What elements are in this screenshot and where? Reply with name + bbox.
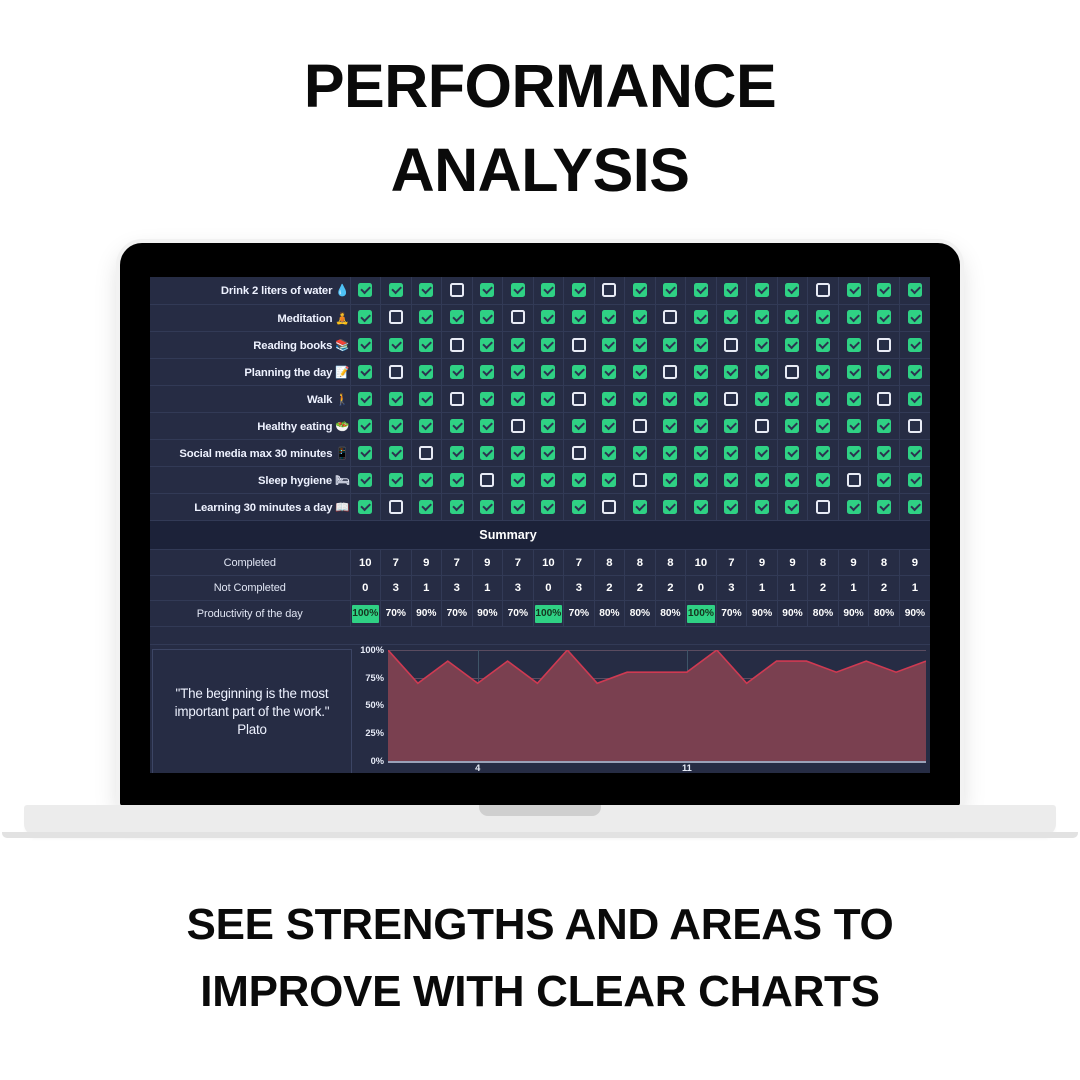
checkbox-checked-icon[interactable] [389, 338, 403, 352]
checkbox-checked-icon[interactable] [816, 392, 830, 406]
habit-cell[interactable] [655, 304, 686, 331]
habit-cell[interactable] [350, 358, 381, 385]
checkbox-checked-icon[interactable] [908, 283, 922, 297]
checkbox-checked-icon[interactable] [847, 446, 861, 460]
checkbox-unchecked-icon[interactable] [389, 500, 403, 514]
habit-cell[interactable] [472, 358, 503, 385]
habit-cell[interactable] [350, 385, 381, 412]
habit-cell[interactable] [350, 412, 381, 439]
habit-cell[interactable] [442, 385, 473, 412]
habit-cell[interactable] [381, 358, 412, 385]
habit-cell[interactable] [777, 385, 808, 412]
checkbox-unchecked-icon[interactable] [785, 365, 799, 379]
habit-cell[interactable] [808, 494, 839, 521]
checkbox-unchecked-icon[interactable] [908, 419, 922, 433]
checkbox-checked-icon[interactable] [541, 419, 555, 433]
habit-cell[interactable] [625, 277, 656, 304]
checkbox-checked-icon[interactable] [633, 283, 647, 297]
habit-cell[interactable] [350, 467, 381, 494]
habit-cell[interactable] [777, 467, 808, 494]
checkbox-checked-icon[interactable] [755, 500, 769, 514]
habit-cell[interactable] [503, 385, 534, 412]
habit-cell[interactable] [686, 494, 717, 521]
habit-cell[interactable] [533, 358, 564, 385]
checkbox-checked-icon[interactable] [816, 338, 830, 352]
checkbox-checked-icon[interactable] [724, 500, 738, 514]
checkbox-checked-icon[interactable] [358, 283, 372, 297]
checkbox-unchecked-icon[interactable] [663, 365, 677, 379]
habit-cell[interactable] [747, 331, 778, 358]
checkbox-checked-icon[interactable] [816, 446, 830, 460]
habit-cell[interactable] [442, 467, 473, 494]
habit-cell[interactable] [655, 440, 686, 467]
checkbox-unchecked-icon[interactable] [572, 392, 586, 406]
checkbox-checked-icon[interactable] [450, 446, 464, 460]
habit-cell[interactable] [869, 331, 900, 358]
habit-cell[interactable] [564, 440, 595, 467]
habit-cell[interactable] [777, 440, 808, 467]
checkbox-checked-icon[interactable] [572, 500, 586, 514]
habit-cell[interactable] [747, 412, 778, 439]
checkbox-checked-icon[interactable] [755, 338, 769, 352]
habit-cell[interactable] [899, 412, 930, 439]
habit-cell[interactable] [899, 358, 930, 385]
checkbox-unchecked-icon[interactable] [480, 473, 494, 487]
checkbox-checked-icon[interactable] [358, 473, 372, 487]
checkbox-checked-icon[interactable] [450, 473, 464, 487]
habit-cell[interactable] [503, 331, 534, 358]
habit-cell[interactable] [381, 412, 412, 439]
habit-cell[interactable] [442, 412, 473, 439]
checkbox-unchecked-icon[interactable] [633, 419, 647, 433]
checkbox-checked-icon[interactable] [755, 365, 769, 379]
checkbox-checked-icon[interactable] [724, 283, 738, 297]
habit-cell[interactable] [533, 494, 564, 521]
habit-cell[interactable] [838, 304, 869, 331]
habit-cell[interactable] [838, 412, 869, 439]
habit-cell[interactable] [625, 385, 656, 412]
checkbox-checked-icon[interactable] [511, 473, 525, 487]
checkbox-checked-icon[interactable] [572, 310, 586, 324]
habit-cell[interactable] [594, 277, 625, 304]
checkbox-checked-icon[interactable] [755, 392, 769, 406]
habit-cell[interactable] [716, 304, 747, 331]
checkbox-checked-icon[interactable] [480, 338, 494, 352]
habit-cell[interactable] [655, 412, 686, 439]
checkbox-checked-icon[interactable] [480, 392, 494, 406]
checkbox-unchecked-icon[interactable] [633, 473, 647, 487]
checkbox-checked-icon[interactable] [541, 283, 555, 297]
checkbox-checked-icon[interactable] [877, 365, 891, 379]
habit-cell[interactable] [411, 385, 442, 412]
checkbox-checked-icon[interactable] [541, 473, 555, 487]
habit-cell[interactable] [838, 440, 869, 467]
habit-cell[interactable] [411, 358, 442, 385]
habit-cell[interactable] [472, 277, 503, 304]
checkbox-checked-icon[interactable] [908, 338, 922, 352]
checkbox-unchecked-icon[interactable] [816, 283, 830, 297]
checkbox-checked-icon[interactable] [389, 283, 403, 297]
checkbox-checked-icon[interactable] [847, 338, 861, 352]
checkbox-checked-icon[interactable] [816, 419, 830, 433]
checkbox-checked-icon[interactable] [908, 365, 922, 379]
habit-cell[interactable] [655, 277, 686, 304]
habit-cell[interactable] [472, 467, 503, 494]
checkbox-checked-icon[interactable] [480, 419, 494, 433]
habit-cell[interactable] [625, 412, 656, 439]
habit-cell[interactable] [503, 277, 534, 304]
checkbox-checked-icon[interactable] [694, 500, 708, 514]
checkbox-unchecked-icon[interactable] [816, 500, 830, 514]
checkbox-checked-icon[interactable] [877, 310, 891, 324]
checkbox-checked-icon[interactable] [785, 283, 799, 297]
habit-cell[interactable] [411, 277, 442, 304]
checkbox-checked-icon[interactable] [694, 392, 708, 406]
checkbox-checked-icon[interactable] [908, 310, 922, 324]
habit-cell[interactable] [686, 467, 717, 494]
checkbox-unchecked-icon[interactable] [847, 473, 861, 487]
habit-cell[interactable] [381, 494, 412, 521]
habit-cell[interactable] [808, 467, 839, 494]
checkbox-checked-icon[interactable] [663, 283, 677, 297]
checkbox-checked-icon[interactable] [389, 419, 403, 433]
checkbox-unchecked-icon[interactable] [511, 310, 525, 324]
checkbox-unchecked-icon[interactable] [724, 338, 738, 352]
habit-cell[interactable] [686, 385, 717, 412]
habit-cell[interactable] [411, 440, 442, 467]
habit-cell[interactable] [869, 358, 900, 385]
habit-cell[interactable] [442, 277, 473, 304]
checkbox-checked-icon[interactable] [755, 446, 769, 460]
habit-cell[interactable] [838, 467, 869, 494]
checkbox-checked-icon[interactable] [724, 419, 738, 433]
habit-cell[interactable] [899, 467, 930, 494]
habit-cell[interactable] [350, 277, 381, 304]
habit-cell[interactable] [777, 494, 808, 521]
checkbox-checked-icon[interactable] [663, 446, 677, 460]
checkbox-checked-icon[interactable] [480, 500, 494, 514]
habit-cell[interactable] [625, 467, 656, 494]
habit-cell[interactable] [594, 412, 625, 439]
checkbox-checked-icon[interactable] [358, 446, 372, 460]
habit-cell[interactable] [747, 494, 778, 521]
habit-cell[interactable] [899, 277, 930, 304]
habit-cell[interactable] [472, 494, 503, 521]
habit-cell[interactable] [533, 467, 564, 494]
habit-cell[interactable] [747, 467, 778, 494]
checkbox-checked-icon[interactable] [602, 446, 616, 460]
habit-cell[interactable] [777, 358, 808, 385]
habit-cell[interactable] [564, 358, 595, 385]
habit-cell[interactable] [533, 304, 564, 331]
habit-cell[interactable] [899, 440, 930, 467]
checkbox-checked-icon[interactable] [908, 473, 922, 487]
habit-cell[interactable] [442, 331, 473, 358]
habit-cell[interactable] [869, 385, 900, 412]
checkbox-checked-icon[interactable] [358, 365, 372, 379]
checkbox-checked-icon[interactable] [877, 283, 891, 297]
habit-cell[interactable] [747, 358, 778, 385]
checkbox-checked-icon[interactable] [816, 473, 830, 487]
habit-cell[interactable] [503, 440, 534, 467]
checkbox-checked-icon[interactable] [541, 392, 555, 406]
habit-cell[interactable] [777, 277, 808, 304]
habit-cell[interactable] [411, 467, 442, 494]
habit-cell[interactable] [869, 304, 900, 331]
checkbox-checked-icon[interactable] [633, 392, 647, 406]
habit-cell[interactable] [472, 331, 503, 358]
habit-cell[interactable] [350, 331, 381, 358]
checkbox-checked-icon[interactable] [389, 446, 403, 460]
checkbox-checked-icon[interactable] [511, 446, 525, 460]
habit-cell[interactable] [869, 277, 900, 304]
checkbox-checked-icon[interactable] [785, 473, 799, 487]
checkbox-checked-icon[interactable] [724, 446, 738, 460]
checkbox-checked-icon[interactable] [816, 365, 830, 379]
checkbox-unchecked-icon[interactable] [450, 392, 464, 406]
checkbox-checked-icon[interactable] [785, 446, 799, 460]
checkbox-checked-icon[interactable] [847, 283, 861, 297]
checkbox-checked-icon[interactable] [480, 365, 494, 379]
habit-cell[interactable] [747, 385, 778, 412]
checkbox-checked-icon[interactable] [694, 473, 708, 487]
checkbox-checked-icon[interactable] [694, 310, 708, 324]
checkbox-checked-icon[interactable] [419, 365, 433, 379]
checkbox-checked-icon[interactable] [724, 365, 738, 379]
habit-cell[interactable] [533, 277, 564, 304]
checkbox-checked-icon[interactable] [358, 310, 372, 324]
checkbox-checked-icon[interactable] [847, 365, 861, 379]
habit-cell[interactable] [899, 385, 930, 412]
habit-cell[interactable] [716, 277, 747, 304]
habit-cell[interactable] [381, 277, 412, 304]
habit-cell[interactable] [442, 440, 473, 467]
habit-cell[interactable] [625, 440, 656, 467]
habit-cell[interactable] [411, 412, 442, 439]
habit-cell[interactable] [594, 494, 625, 521]
habit-cell[interactable] [411, 331, 442, 358]
checkbox-checked-icon[interactable] [663, 392, 677, 406]
habit-cell[interactable] [716, 358, 747, 385]
habit-cell[interactable] [564, 331, 595, 358]
habit-cell[interactable] [686, 331, 717, 358]
habit-cell[interactable] [869, 494, 900, 521]
checkbox-checked-icon[interactable] [511, 338, 525, 352]
checkbox-checked-icon[interactable] [785, 310, 799, 324]
habit-cell[interactable] [777, 331, 808, 358]
checkbox-checked-icon[interactable] [908, 446, 922, 460]
checkbox-checked-icon[interactable] [694, 283, 708, 297]
checkbox-checked-icon[interactable] [755, 473, 769, 487]
habit-cell[interactable] [655, 331, 686, 358]
habit-cell[interactable] [350, 440, 381, 467]
habit-cell[interactable] [686, 440, 717, 467]
checkbox-checked-icon[interactable] [847, 310, 861, 324]
habit-cell[interactable] [472, 412, 503, 439]
habit-cell[interactable] [381, 331, 412, 358]
habit-cell[interactable] [869, 440, 900, 467]
habit-cell[interactable] [777, 412, 808, 439]
habit-cell[interactable] [899, 304, 930, 331]
checkbox-unchecked-icon[interactable] [724, 392, 738, 406]
checkbox-checked-icon[interactable] [602, 473, 616, 487]
habit-cell[interactable] [655, 494, 686, 521]
checkbox-checked-icon[interactable] [572, 419, 586, 433]
checkbox-checked-icon[interactable] [755, 283, 769, 297]
habit-cell[interactable] [808, 277, 839, 304]
habit-cell[interactable] [503, 304, 534, 331]
checkbox-unchecked-icon[interactable] [602, 283, 616, 297]
habit-cell[interactable] [777, 304, 808, 331]
checkbox-checked-icon[interactable] [480, 310, 494, 324]
checkbox-checked-icon[interactable] [633, 365, 647, 379]
habit-cell[interactable] [503, 412, 534, 439]
habit-cell[interactable] [533, 412, 564, 439]
checkbox-unchecked-icon[interactable] [877, 392, 891, 406]
checkbox-checked-icon[interactable] [877, 473, 891, 487]
checkbox-checked-icon[interactable] [724, 473, 738, 487]
checkbox-unchecked-icon[interactable] [511, 419, 525, 433]
checkbox-checked-icon[interactable] [541, 500, 555, 514]
habit-cell[interactable] [625, 494, 656, 521]
habit-cell[interactable] [686, 277, 717, 304]
checkbox-checked-icon[interactable] [541, 365, 555, 379]
checkbox-checked-icon[interactable] [877, 419, 891, 433]
checkbox-unchecked-icon[interactable] [450, 283, 464, 297]
habit-cell[interactable] [411, 494, 442, 521]
checkbox-checked-icon[interactable] [633, 310, 647, 324]
habit-cell[interactable] [869, 412, 900, 439]
checkbox-unchecked-icon[interactable] [572, 446, 586, 460]
checkbox-checked-icon[interactable] [572, 473, 586, 487]
habit-cell[interactable] [716, 331, 747, 358]
checkbox-checked-icon[interactable] [602, 310, 616, 324]
habit-cell[interactable] [625, 358, 656, 385]
checkbox-checked-icon[interactable] [419, 310, 433, 324]
checkbox-checked-icon[interactable] [602, 338, 616, 352]
habit-cell[interactable] [564, 494, 595, 521]
habit-cell[interactable] [594, 358, 625, 385]
checkbox-checked-icon[interactable] [419, 392, 433, 406]
checkbox-checked-icon[interactable] [511, 500, 525, 514]
habit-cell[interactable] [350, 304, 381, 331]
habit-cell[interactable] [808, 440, 839, 467]
checkbox-checked-icon[interactable] [511, 365, 525, 379]
habit-cell[interactable] [381, 440, 412, 467]
checkbox-checked-icon[interactable] [450, 500, 464, 514]
habit-cell[interactable] [747, 304, 778, 331]
checkbox-checked-icon[interactable] [358, 392, 372, 406]
checkbox-checked-icon[interactable] [511, 283, 525, 297]
checkbox-checked-icon[interactable] [450, 310, 464, 324]
habit-cell[interactable] [747, 277, 778, 304]
habit-cell[interactable] [442, 494, 473, 521]
habit-cell[interactable] [838, 358, 869, 385]
habit-cell[interactable] [625, 331, 656, 358]
checkbox-checked-icon[interactable] [663, 338, 677, 352]
checkbox-checked-icon[interactable] [694, 419, 708, 433]
checkbox-checked-icon[interactable] [602, 419, 616, 433]
checkbox-checked-icon[interactable] [847, 392, 861, 406]
checkbox-checked-icon[interactable] [358, 419, 372, 433]
habit-cell[interactable] [564, 304, 595, 331]
checkbox-checked-icon[interactable] [541, 446, 555, 460]
habit-cell[interactable] [625, 304, 656, 331]
habit-cell[interactable] [594, 385, 625, 412]
habit-cell[interactable] [686, 304, 717, 331]
checkbox-checked-icon[interactable] [816, 310, 830, 324]
habit-cell[interactable] [503, 494, 534, 521]
checkbox-checked-icon[interactable] [694, 338, 708, 352]
checkbox-checked-icon[interactable] [847, 419, 861, 433]
checkbox-unchecked-icon[interactable] [389, 365, 403, 379]
habit-cell[interactable] [503, 467, 534, 494]
checkbox-checked-icon[interactable] [450, 365, 464, 379]
checkbox-checked-icon[interactable] [419, 283, 433, 297]
habit-cell[interactable] [899, 494, 930, 521]
habit-cell[interactable] [350, 494, 381, 521]
checkbox-unchecked-icon[interactable] [450, 338, 464, 352]
habit-cell[interactable] [564, 467, 595, 494]
checkbox-checked-icon[interactable] [572, 283, 586, 297]
checkbox-checked-icon[interactable] [908, 392, 922, 406]
checkbox-unchecked-icon[interactable] [602, 500, 616, 514]
habit-cell[interactable] [808, 412, 839, 439]
checkbox-checked-icon[interactable] [785, 419, 799, 433]
checkbox-checked-icon[interactable] [419, 338, 433, 352]
habit-cell[interactable] [472, 304, 503, 331]
habit-cell[interactable] [686, 358, 717, 385]
checkbox-checked-icon[interactable] [633, 338, 647, 352]
habit-cell[interactable] [899, 331, 930, 358]
habit-cell[interactable] [686, 412, 717, 439]
habit-cell[interactable] [808, 331, 839, 358]
checkbox-checked-icon[interactable] [572, 365, 586, 379]
checkbox-checked-icon[interactable] [450, 419, 464, 433]
habit-cell[interactable] [381, 304, 412, 331]
checkbox-checked-icon[interactable] [785, 500, 799, 514]
habit-cell[interactable] [808, 385, 839, 412]
checkbox-checked-icon[interactable] [511, 392, 525, 406]
checkbox-checked-icon[interactable] [389, 392, 403, 406]
checkbox-checked-icon[interactable] [358, 500, 372, 514]
checkbox-checked-icon[interactable] [663, 500, 677, 514]
habit-cell[interactable] [838, 385, 869, 412]
checkbox-checked-icon[interactable] [724, 310, 738, 324]
habit-cell[interactable] [381, 385, 412, 412]
habit-cell[interactable] [594, 467, 625, 494]
checkbox-checked-icon[interactable] [541, 310, 555, 324]
habit-cell[interactable] [838, 277, 869, 304]
checkbox-checked-icon[interactable] [663, 419, 677, 433]
habit-cell[interactable] [411, 304, 442, 331]
habit-cell[interactable] [564, 385, 595, 412]
checkbox-checked-icon[interactable] [541, 338, 555, 352]
habit-cell[interactable] [594, 440, 625, 467]
checkbox-checked-icon[interactable] [785, 338, 799, 352]
checkbox-checked-icon[interactable] [633, 500, 647, 514]
habit-cell[interactable] [442, 358, 473, 385]
habit-cell[interactable] [472, 440, 503, 467]
habit-cell[interactable] [533, 440, 564, 467]
habit-cell[interactable] [838, 494, 869, 521]
checkbox-checked-icon[interactable] [602, 365, 616, 379]
habit-cell[interactable] [716, 385, 747, 412]
checkbox-checked-icon[interactable] [358, 338, 372, 352]
checkbox-checked-icon[interactable] [694, 446, 708, 460]
habit-cell[interactable] [716, 440, 747, 467]
habit-cell[interactable] [594, 331, 625, 358]
